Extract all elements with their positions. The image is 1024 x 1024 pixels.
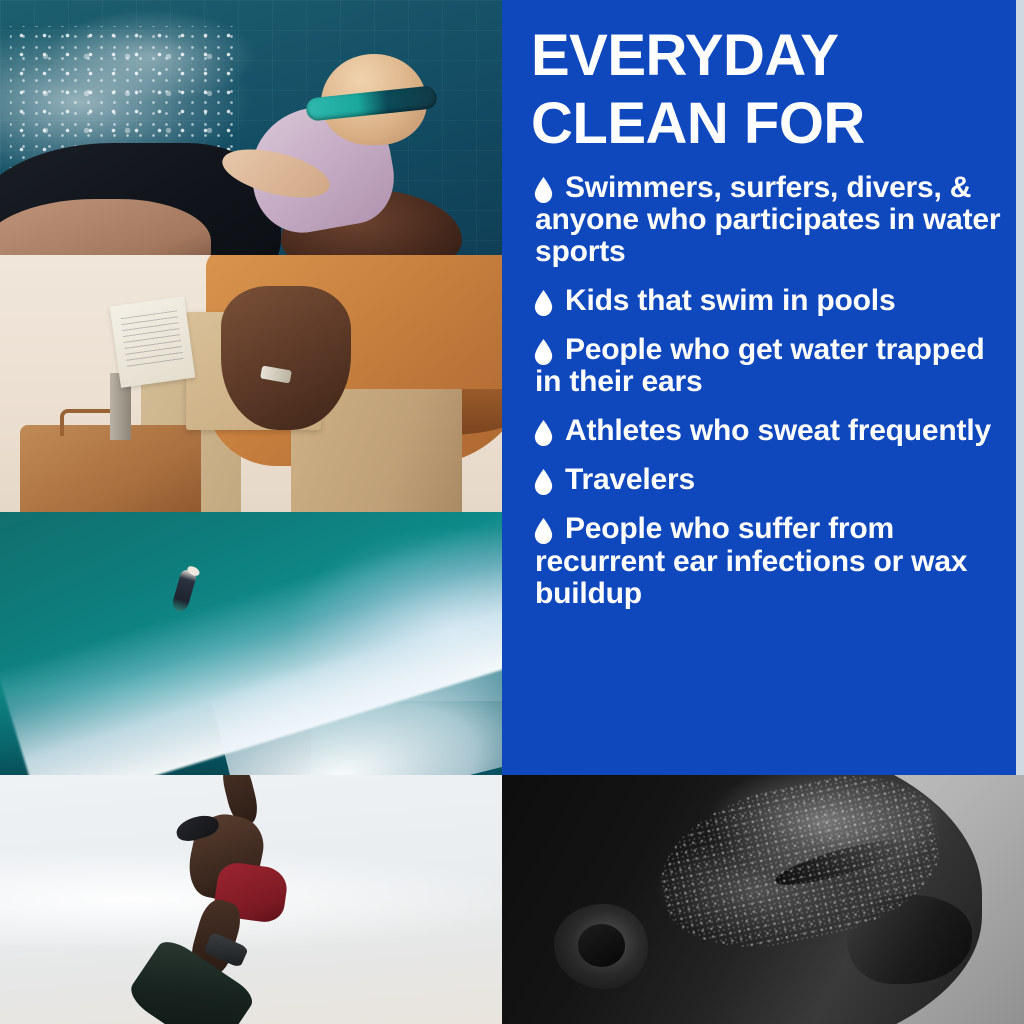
page-title: EVERYDAY CLEAN FOR bbox=[531, 22, 1002, 158]
list-item-label: Travelers bbox=[565, 463, 695, 496]
hand bbox=[221, 286, 352, 430]
boarding-pass bbox=[110, 296, 196, 388]
infographic-canvas: EVERYDAY CLEAN FOR Swimmers, surfers, di… bbox=[0, 0, 1024, 1024]
water-drop-icon bbox=[533, 177, 554, 203]
water-drop-icon bbox=[533, 469, 554, 495]
wakeboarder-photo bbox=[0, 775, 502, 1024]
traveler-photo bbox=[0, 255, 502, 512]
list-item: People who suffer from recurrent ear inf… bbox=[531, 513, 1002, 609]
panel-right-edge bbox=[1016, 0, 1024, 775]
list-item-label: Swimmers, surfers, divers, & anyone who … bbox=[535, 171, 1000, 268]
list-item: Swimmers, surfers, divers, & anyone who … bbox=[531, 172, 1002, 268]
ear-canal bbox=[578, 924, 625, 966]
benefits-list: Swimmers, surfers, divers, & anyone who … bbox=[531, 172, 1002, 610]
water-drop-icon bbox=[533, 518, 554, 544]
water-drop-icon bbox=[533, 339, 554, 365]
list-item-label: People who suffer from recurrent ear inf… bbox=[535, 512, 967, 609]
list-item-label: Kids that swim in pools bbox=[565, 284, 895, 317]
list-item: Travelers bbox=[531, 464, 1002, 496]
water-drop-icon bbox=[533, 420, 554, 446]
list-item: People who get water trapped in their ea… bbox=[531, 334, 1002, 398]
info-panel: EVERYDAY CLEAN FOR Swimmers, surfers, di… bbox=[502, 0, 1016, 775]
sweating-athlete-photo bbox=[502, 775, 1024, 1024]
underwater-pool-photo bbox=[0, 0, 502, 255]
list-item-label: Athletes who sweat frequently bbox=[565, 414, 991, 447]
list-item-label: People who get water trapped in their ea… bbox=[535, 333, 984, 398]
list-item: Kids that swim in pools bbox=[531, 285, 1002, 317]
list-item: Athletes who sweat frequently bbox=[531, 415, 1002, 447]
water-drop-icon bbox=[533, 290, 554, 316]
surfer-aerial-photo bbox=[0, 512, 502, 775]
